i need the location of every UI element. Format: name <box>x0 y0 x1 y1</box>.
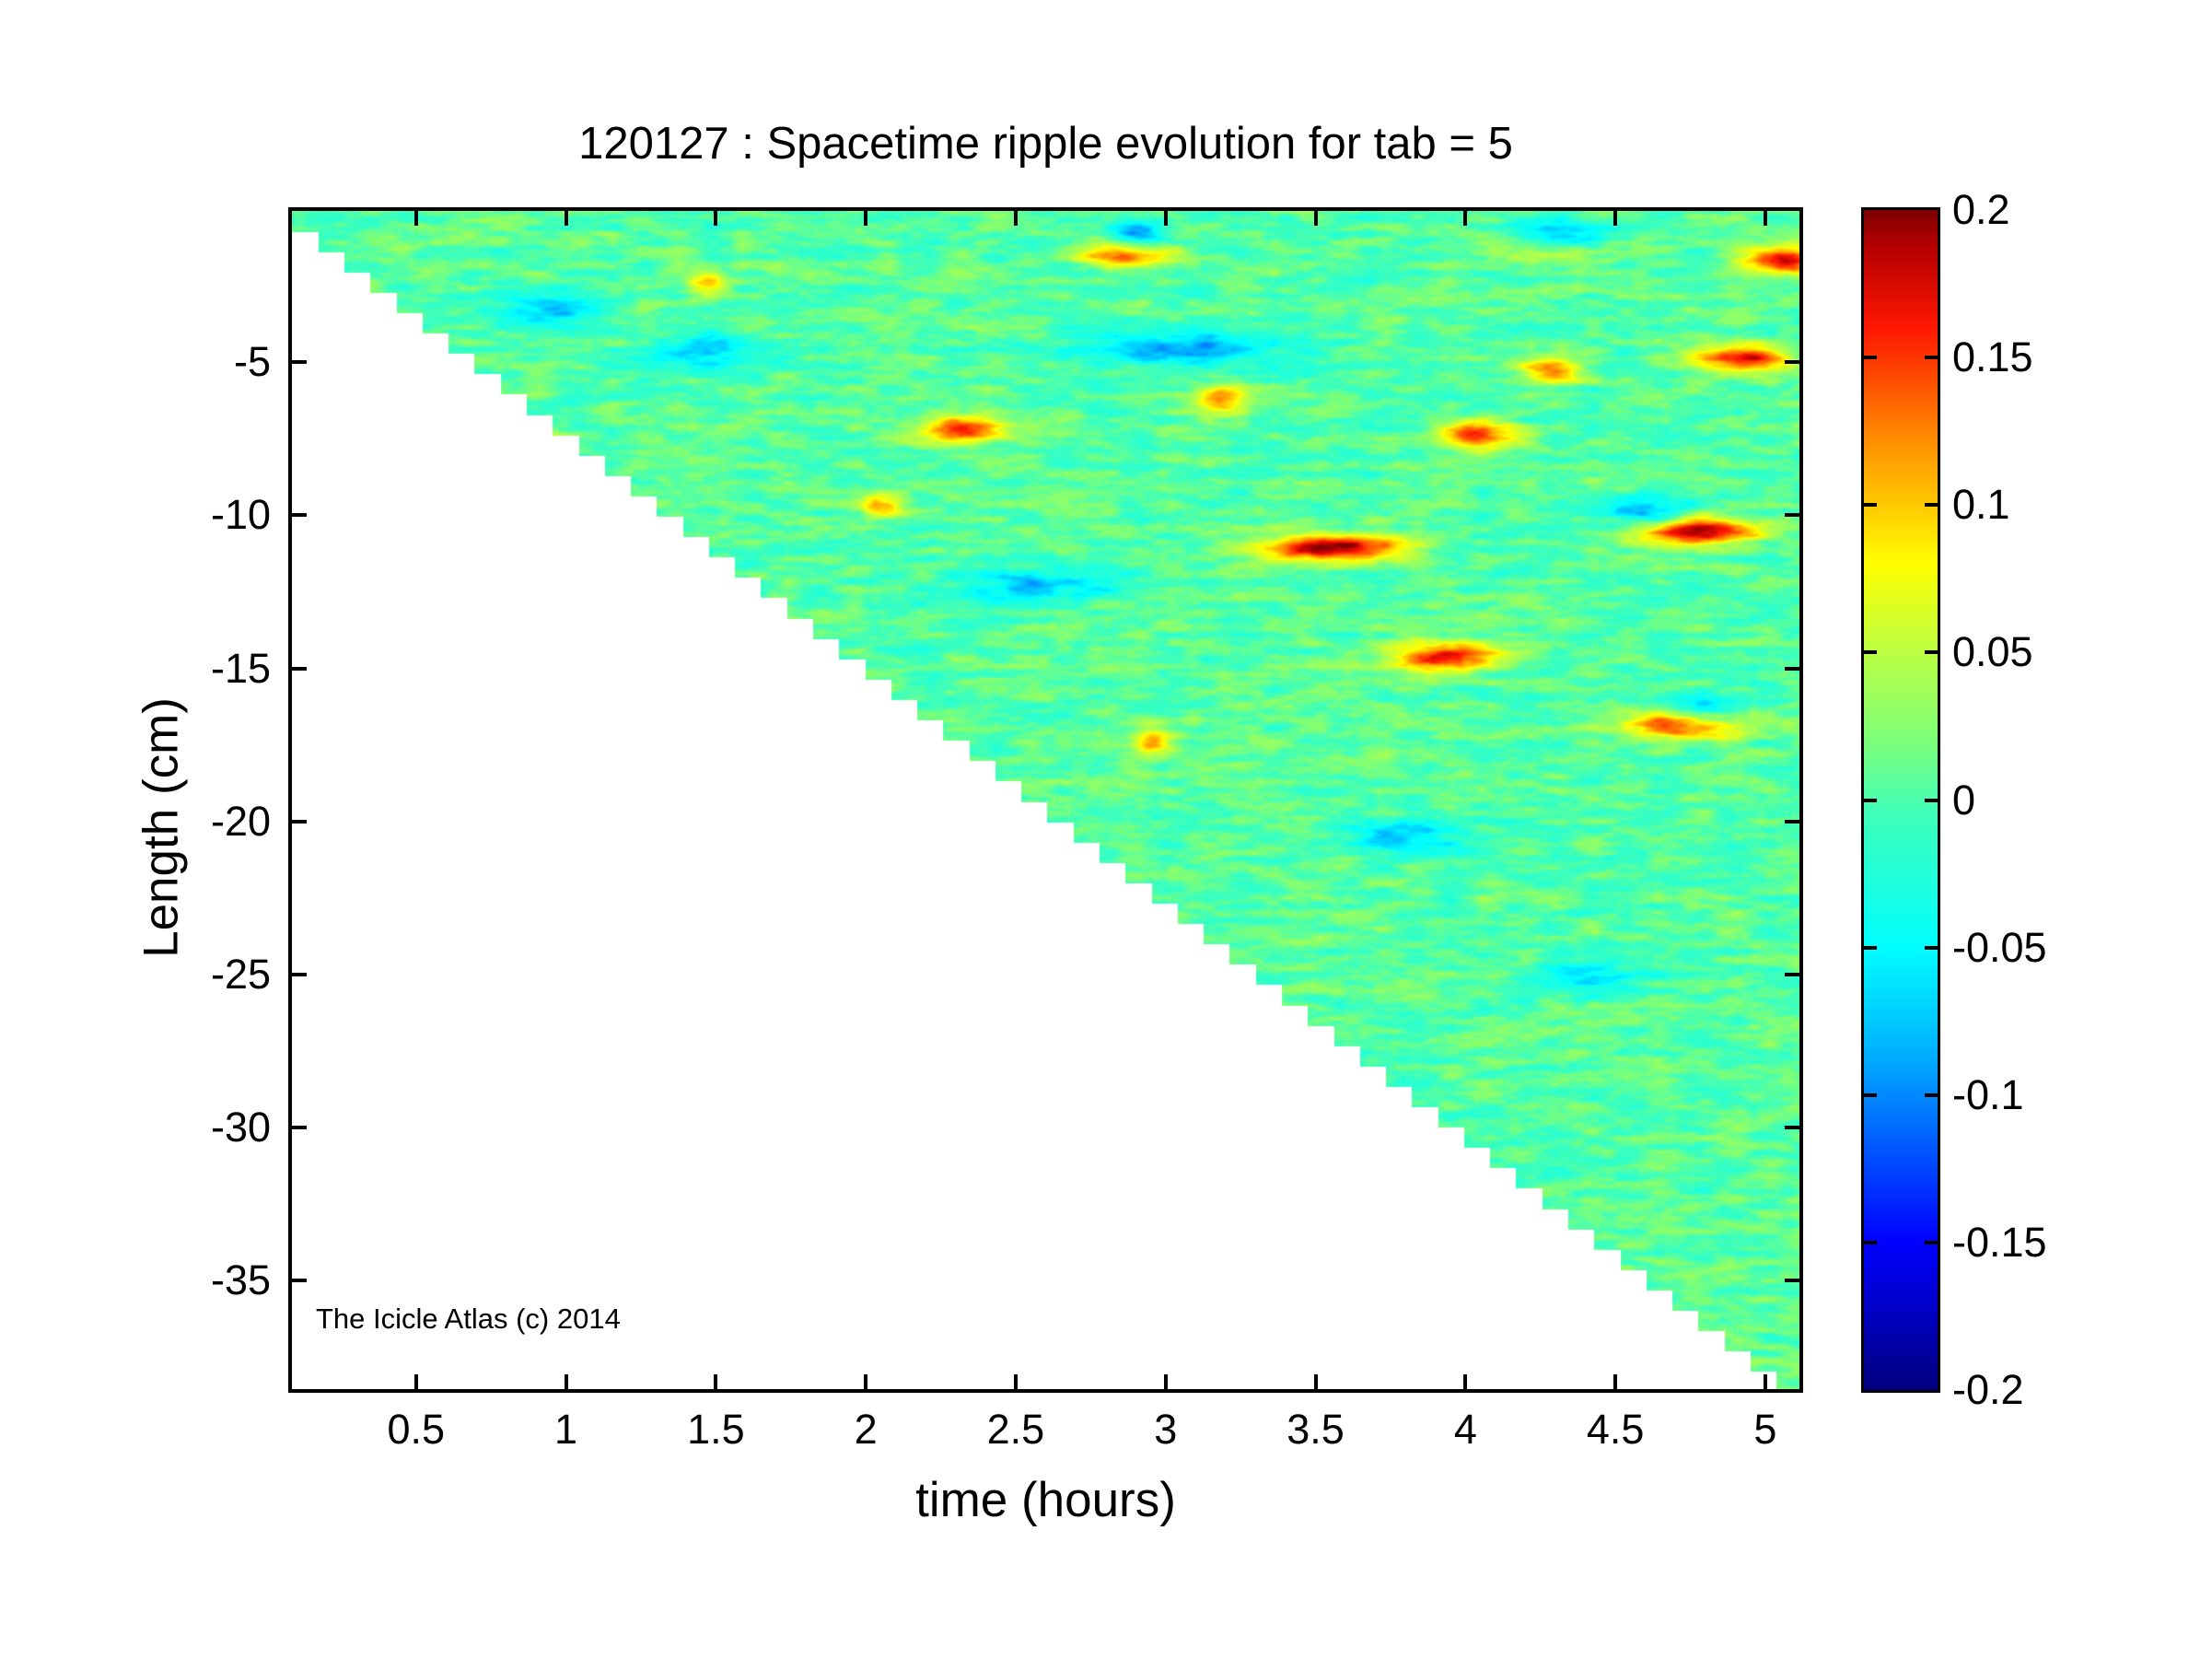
y-tick-mark <box>288 360 307 364</box>
heatmap-image <box>292 211 1803 1393</box>
y-tick-mark <box>1785 513 1803 517</box>
x-axis-label: time (hours) <box>288 1472 1803 1528</box>
y-tick-mark <box>1785 1126 1803 1129</box>
x-tick-mark <box>414 1374 418 1393</box>
y-tick-label: -15 <box>211 645 271 693</box>
colorbar-tick-mark <box>1861 946 1877 950</box>
colorbar-tick-mark <box>1861 1093 1877 1097</box>
y-tick-label: -5 <box>234 338 271 386</box>
x-tick-label: 2 <box>855 1406 878 1454</box>
y-tick-mark <box>1785 820 1803 824</box>
x-tick-mark <box>1764 207 1767 226</box>
x-tick-mark <box>714 1374 717 1393</box>
colorbar-tick-mark <box>1925 650 1940 654</box>
colorbar-tick-label: 0.1 <box>1952 481 2010 529</box>
colorbar-tick-mark <box>1925 1241 1940 1244</box>
x-tick-mark <box>1613 207 1617 226</box>
y-tick-mark <box>1785 973 1803 976</box>
x-tick-label: 1 <box>554 1406 577 1454</box>
y-tick-label: -35 <box>211 1256 271 1304</box>
x-tick-mark <box>1314 1374 1318 1393</box>
x-tick-label: 3 <box>1154 1406 1177 1454</box>
colorbar-tick-label: 0.2 <box>1952 186 2010 234</box>
colorbar-tick-label: -0.05 <box>1952 924 2047 972</box>
y-axis-label: Length (cm) <box>134 644 190 1012</box>
x-tick-mark <box>1164 1374 1168 1393</box>
heatmap-axes[interactable]: The Icicle Atlas (c) 2014 <box>288 207 1803 1393</box>
y-tick-mark <box>1785 667 1803 671</box>
y-tick-mark <box>1785 360 1803 364</box>
colorbar-tick-mark <box>1861 650 1877 654</box>
y-tick-label: -30 <box>211 1104 271 1151</box>
page-title: 120127 : Spacetime ripple evolution for … <box>288 118 1803 169</box>
y-tick-label: -20 <box>211 798 271 846</box>
x-tick-mark <box>864 1374 867 1393</box>
x-tick-mark <box>1613 1374 1617 1393</box>
figure-canvas: 120127 : Spacetime ripple evolution for … <box>0 0 2212 1659</box>
y-tick-label: -25 <box>211 951 271 999</box>
colorbar-tick-mark <box>1925 799 1940 802</box>
colorbar-tick-mark <box>1925 946 1940 950</box>
x-tick-mark <box>864 207 867 226</box>
colorbar-tick-mark <box>1925 1093 1940 1097</box>
colorbar-tick-label: -0.2 <box>1952 1366 2024 1414</box>
colorbar-tick-mark <box>1861 799 1877 802</box>
x-tick-mark <box>1014 207 1018 226</box>
x-tick-mark <box>1014 1374 1018 1393</box>
colorbar-tick-label: 0.05 <box>1952 628 2033 676</box>
colorbar-tick-mark <box>1925 503 1940 507</box>
x-tick-label: 1.5 <box>687 1406 745 1454</box>
y-tick-mark <box>288 973 307 976</box>
x-tick-mark <box>1314 207 1318 226</box>
y-tick-mark <box>288 1279 307 1282</box>
x-tick-label: 4.5 <box>1587 1406 1645 1454</box>
y-tick-mark <box>288 667 307 671</box>
colorbar-tick-mark <box>1925 356 1940 359</box>
x-tick-mark <box>1463 1374 1467 1393</box>
x-tick-label: 0.5 <box>387 1406 445 1454</box>
colorbar-tick-label: -0.15 <box>1952 1219 2047 1267</box>
x-tick-mark <box>714 207 717 226</box>
y-tick-label: -10 <box>211 491 271 539</box>
y-tick-mark <box>288 820 307 824</box>
y-tick-mark <box>1785 1279 1803 1282</box>
watermark-credit: The Icicle Atlas (c) 2014 <box>316 1303 621 1336</box>
colorbar-tick-mark <box>1861 356 1877 359</box>
x-tick-mark <box>565 207 568 226</box>
x-tick-mark <box>1463 207 1467 226</box>
y-tick-mark <box>288 513 307 517</box>
x-tick-label: 4 <box>1454 1406 1477 1454</box>
x-tick-mark <box>565 1374 568 1393</box>
colorbar-tick-mark <box>1861 1241 1877 1244</box>
x-tick-mark <box>414 207 418 226</box>
x-tick-label: 2.5 <box>987 1406 1045 1454</box>
x-tick-mark <box>1764 1374 1767 1393</box>
colorbar-tick-label: -0.1 <box>1952 1071 2024 1119</box>
colorbar-tick-label: 0.15 <box>1952 333 2033 381</box>
x-tick-label: 3.5 <box>1286 1406 1345 1454</box>
colorbar-tick-mark <box>1861 503 1877 507</box>
colorbar-tick-label: 0 <box>1952 777 1975 824</box>
y-tick-mark <box>288 1126 307 1129</box>
x-tick-mark <box>1164 207 1168 226</box>
x-tick-label: 5 <box>1753 1406 1776 1454</box>
